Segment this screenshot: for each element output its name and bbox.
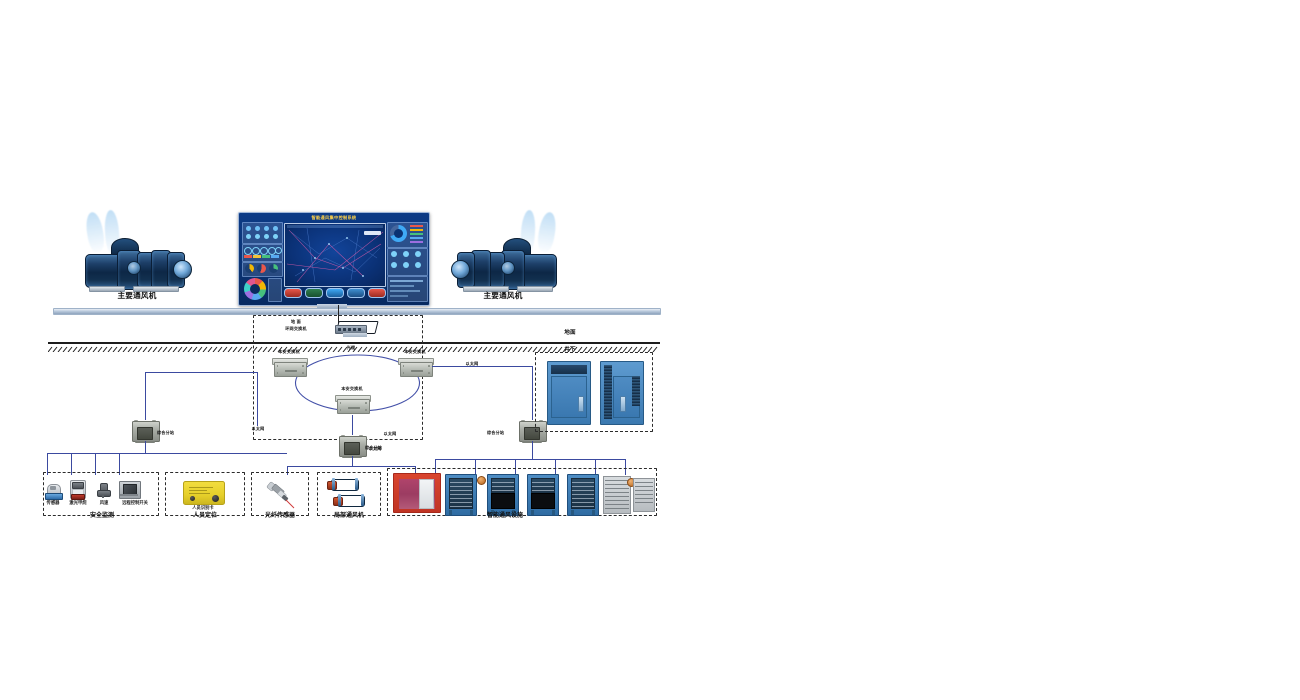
group-smart-ventilation-label: 智能通风设施 — [450, 510, 560, 519]
is-switch-left-label: 本安交换机 — [262, 350, 316, 355]
ground-ring-switch-label-line1: 地 面 — [267, 320, 325, 325]
main-fan-left: 主要通风机 — [67, 214, 207, 306]
monitor-main-screen — [284, 223, 386, 287]
is-switch-bottom-label: 本安交换机 — [325, 387, 379, 392]
group-safety-monitoring-label: 安全监测 — [57, 510, 147, 519]
ventilation-door-b — [600, 361, 644, 425]
main-fan-right-label: 主要通风机 — [449, 292, 557, 300]
ventilation-knob-1 — [477, 476, 486, 485]
local-fan-unit-2 — [333, 494, 367, 507]
main-fan-right: 主要通风机 — [453, 214, 593, 306]
ventilation-cabinet-4 — [567, 474, 599, 516]
substation-left-label: 综合分站 — [157, 431, 197, 436]
ground-ring-switch — [335, 319, 377, 337]
is-switch-left — [272, 358, 306, 378]
monitor-left-panel — [242, 222, 281, 300]
device-remote-control-switch-label: 远程控制开关 — [113, 500, 157, 506]
ground-ring-switch-label-line2: 环网交换机 — [267, 327, 325, 332]
is-switch-right-label: 本安交换机 — [388, 350, 442, 355]
diagram-canvas: 主要通风机 智能通风集中控制系统 — [0, 0, 1300, 700]
ethernet-label-bottom: 以太网 — [373, 432, 407, 437]
ventilation-shutter-2 — [633, 478, 655, 512]
device-personnel-id-card — [183, 481, 225, 505]
local-fan-unit-1 — [327, 478, 361, 491]
fiber-optic-probe-icon — [265, 480, 297, 510]
ventilation-system-diagram: 主要通风机 智能通风集中控制系统 — [35, 200, 675, 530]
main-fan-left-label: 主要通风机 — [83, 292, 191, 300]
substation-center — [339, 434, 365, 456]
ventilation-door-a — [547, 361, 591, 425]
substation-center-label: 综合分站 — [365, 446, 405, 451]
substation-right-label: 综合分站 — [487, 431, 527, 436]
is-switch-right — [398, 358, 432, 378]
screen-readout-chip — [364, 231, 381, 235]
monitor-button-bar — [284, 287, 384, 299]
monitor-right-panel — [387, 222, 426, 300]
ethernet-label-left: 以太网 — [241, 427, 275, 432]
control-system-monitor: 智能通风集中控制系统 — [238, 212, 430, 306]
surface-platform-bar — [53, 308, 661, 315]
substation-left — [132, 419, 158, 441]
device-laser-methane-label: 激光甲烷 — [61, 500, 95, 506]
monitor-title: 智能通风集中控制系统 — [239, 215, 429, 221]
ground-label: 地面 — [550, 330, 590, 336]
fiber-cable-label: 光缆 — [331, 346, 371, 351]
ventilation-air-door-red — [393, 473, 441, 513]
group-local-fan-label: 局部通风机 — [318, 510, 380, 519]
group-personnel-positioning-label: 人员定位 — [175, 510, 235, 519]
is-switch-bottom — [335, 395, 369, 415]
group-fiber-sensor-label: 光纤传感器 — [250, 510, 310, 519]
